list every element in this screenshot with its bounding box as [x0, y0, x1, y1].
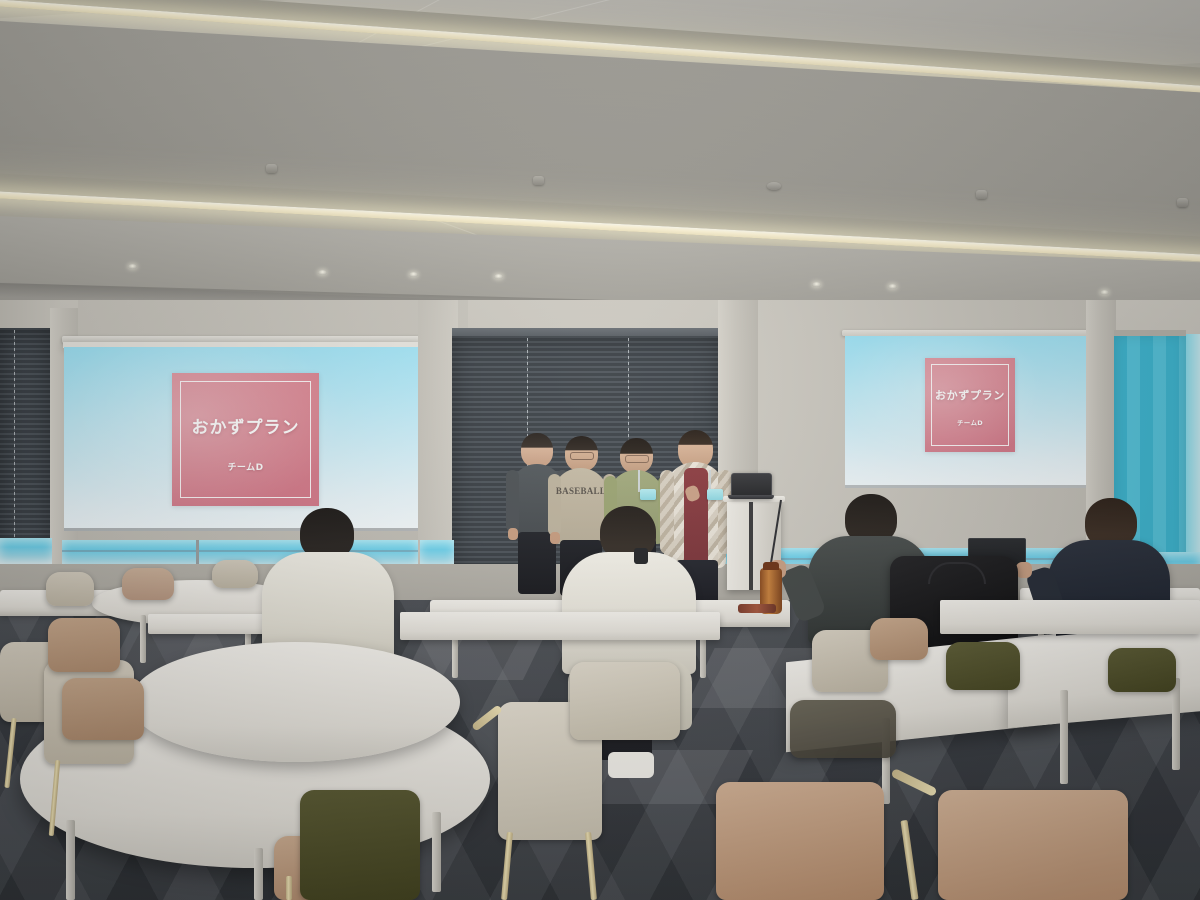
- sprinkler-icon: [533, 176, 544, 185]
- presenter-2-hand-left: [550, 532, 560, 544]
- projection-screen-bottom-bar-right: [845, 485, 1089, 488]
- table-item-snack: [738, 604, 776, 613]
- downlight-icon: [128, 264, 137, 269]
- chair-cream-behind-center: [570, 662, 680, 740]
- downlight-icon: [318, 270, 327, 275]
- presenter-2-glasses-icon: [570, 452, 594, 460]
- vertical-blind-headrail: [1114, 330, 1186, 336]
- headphones-icon: [634, 548, 648, 564]
- presentation-laptop-base: [728, 495, 774, 499]
- presenter-3-name-badge: [640, 489, 656, 500]
- chair-under-table-right: [790, 700, 896, 758]
- meeting-room-photo: おかずプラン チームD おかずプラン チームD: [0, 0, 1200, 900]
- sprinkler-icon: [976, 190, 987, 199]
- table-leg: [1172, 678, 1180, 770]
- presenter-4-inner-tee: [684, 468, 708, 564]
- table-oval-mid-left: [130, 642, 460, 762]
- table-leg: [254, 848, 263, 900]
- presenter-3-lanyard: [638, 470, 640, 492]
- slide-card-right: おかずプラン チームD: [925, 358, 1015, 452]
- table-leg: [140, 615, 146, 663]
- chair-back-left-2: [122, 568, 174, 600]
- downlight-icon: [409, 272, 418, 277]
- presenter-1-hand-left: [508, 528, 518, 540]
- chair-left-tan-2: [62, 678, 144, 740]
- window-band-left: [0, 538, 52, 564]
- presenter-3-glasses-icon: [625, 455, 649, 463]
- drink-bottle-cap: [763, 562, 779, 570]
- presenter-1-head: [521, 433, 553, 467]
- chair-front-right-tan-2: [938, 790, 1128, 900]
- downlight-icon: [494, 274, 503, 279]
- slide-card-left: おかずプラン チームD: [172, 373, 319, 506]
- chair-back-left-3: [212, 560, 258, 588]
- downlight-icon: [888, 284, 897, 289]
- chair-left-tan-1: [48, 618, 120, 672]
- sprinkler-icon: [266, 164, 277, 173]
- attendee-center-shoes: [608, 752, 654, 778]
- table-leg: [66, 820, 75, 900]
- downlight-icon: [1100, 290, 1109, 295]
- chair-olive-center: [300, 790, 420, 900]
- right-projection-screen: おかずプラン チームD: [845, 336, 1089, 488]
- chair-olive-far-right: [1108, 648, 1176, 692]
- attendee-right2-hand: [1016, 562, 1032, 578]
- ceiling: [0, 0, 1200, 330]
- presenter-4-arm-left: [660, 470, 674, 554]
- projection-screen-bottom-bar-left: [64, 528, 418, 531]
- chair-front-right-tan: [716, 782, 884, 900]
- left-projection-screen: おかずプラン チームD: [64, 347, 418, 531]
- presenter-4-name-badge: [707, 489, 723, 500]
- presenter-2-arm-left: [548, 474, 561, 536]
- speaker-icon: [767, 182, 781, 190]
- table-leg: [1060, 690, 1068, 784]
- downlight-icon: [812, 282, 821, 287]
- table-leg: [432, 812, 441, 892]
- chair-right-tan-1: [870, 618, 928, 660]
- presenter-1-arm-left: [506, 470, 519, 532]
- presenter-2-shirt-text: BASEBALL: [555, 486, 607, 496]
- city-horizon-line: [62, 550, 418, 552]
- table-rect-center: [400, 612, 720, 640]
- sprinkler-icon: [1177, 198, 1188, 207]
- chair-leg: [286, 876, 292, 900]
- chair-olive-right: [946, 642, 1020, 690]
- window-edge-right: [1186, 334, 1200, 564]
- lectern-stripe: [749, 500, 753, 590]
- chair-back-left-1: [46, 572, 94, 606]
- table-rect-right-back: [940, 600, 1200, 634]
